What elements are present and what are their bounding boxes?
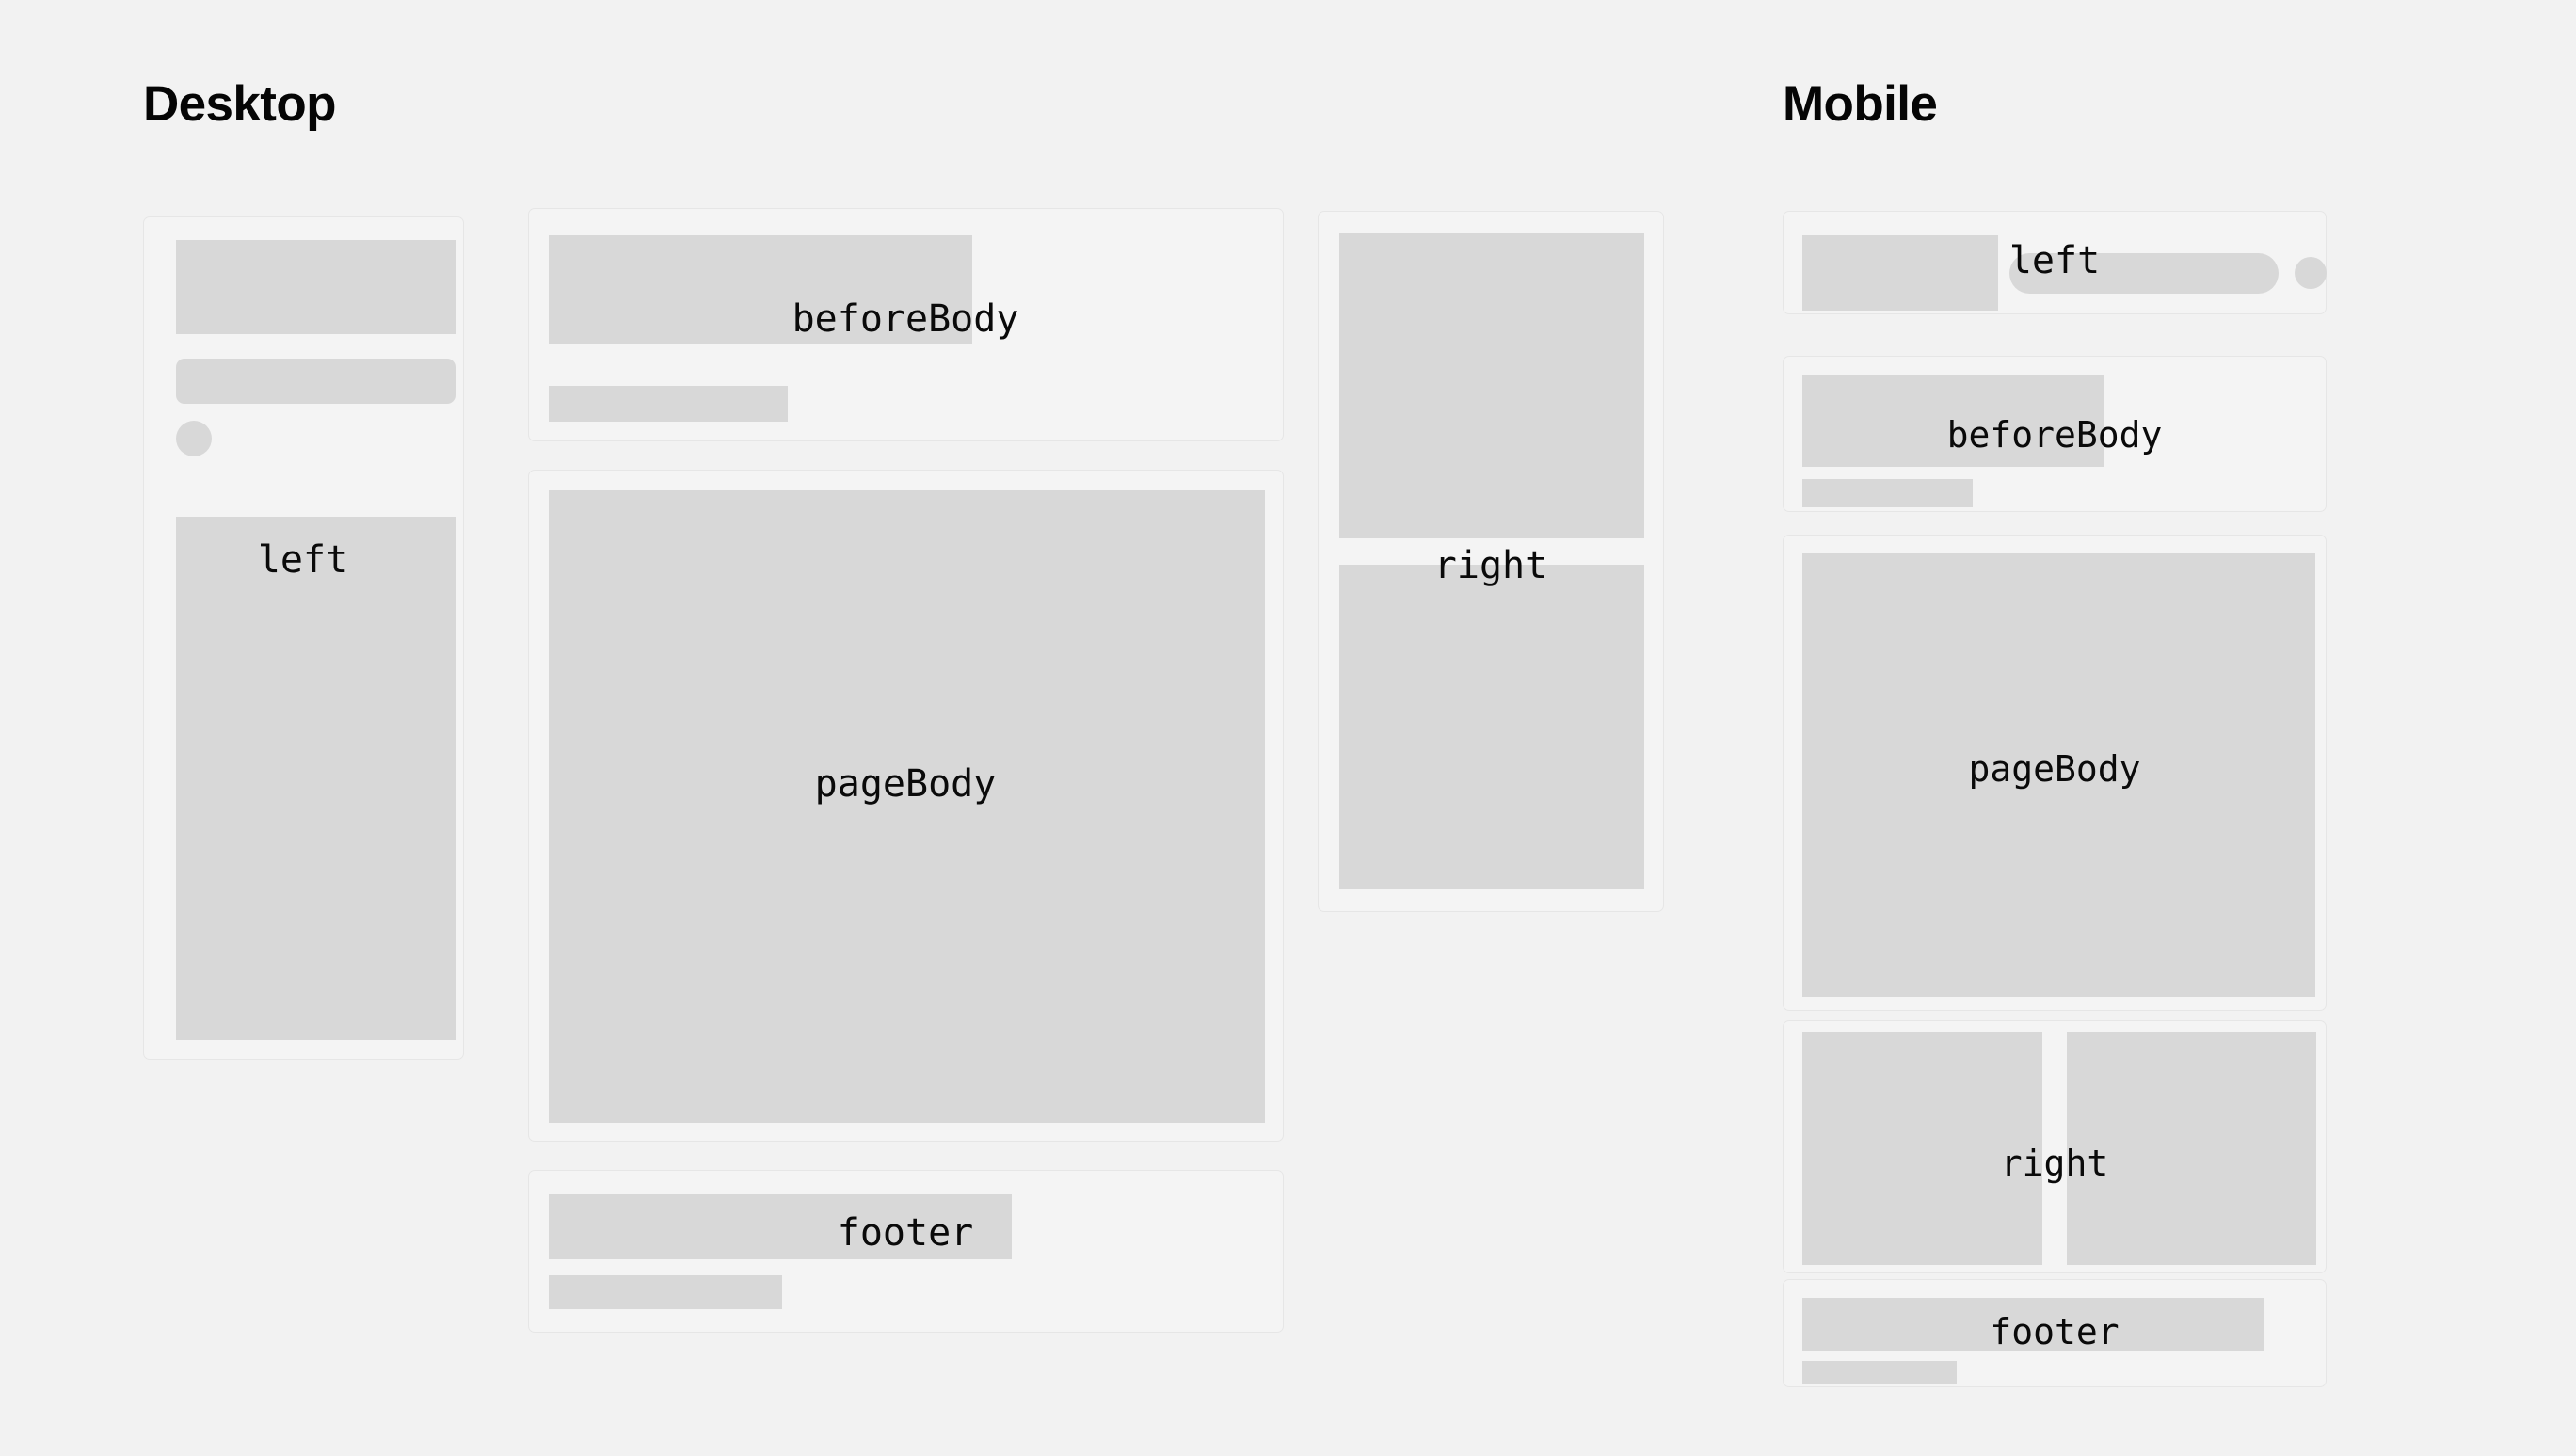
sidebar-avatar-circle [176, 421, 212, 456]
right-rail-placeholder-top [1339, 233, 1644, 538]
mobile-topbar-placeholder-banner [1802, 235, 1998, 311]
mobile-before-body-placeholder-hero [1802, 375, 2104, 467]
before-body-placeholder-hero [549, 235, 972, 344]
mobile-right-placeholder-right [2067, 1032, 2316, 1265]
mobile-before-body-card [1783, 356, 2327, 512]
mobile-right-row-card [1783, 1020, 2327, 1273]
mobile-before-body-placeholder-caption [1802, 479, 1973, 507]
desktop-footer-card [528, 1170, 1284, 1333]
page-body-placeholder-content [549, 490, 1265, 1123]
mobile-topbar-avatar-circle [2295, 257, 2327, 289]
desktop-before-body-card [528, 208, 1284, 441]
mobile-footer-card [1783, 1279, 2327, 1387]
page-title-desktop: Desktop [143, 79, 336, 129]
mobile-footer-placeholder-bar [1802, 1298, 2264, 1351]
desktop-right-rail-card [1318, 211, 1664, 912]
footer-placeholder-caption [549, 1275, 782, 1309]
sidebar-placeholder-field [176, 359, 456, 404]
desktop-left-sidebar-card [143, 216, 464, 1060]
right-rail-placeholder-bottom [1339, 565, 1644, 889]
mobile-page-body-placeholder-content [1802, 553, 2315, 997]
before-body-placeholder-caption [549, 386, 788, 422]
mobile-page-body-card [1783, 535, 2327, 1011]
sidebar-placeholder-nav [176, 517, 456, 1040]
sidebar-placeholder-banner [176, 240, 456, 334]
mobile-left-top-bar-card [1783, 211, 2327, 314]
mobile-topbar-placeholder-field [2009, 253, 2279, 294]
mobile-footer-placeholder-caption [1802, 1361, 1957, 1384]
page-title-mobile: Mobile [1783, 79, 1937, 129]
desktop-page-body-card [528, 470, 1284, 1142]
footer-placeholder-bar [549, 1194, 1012, 1259]
mobile-right-placeholder-left [1802, 1032, 2042, 1265]
